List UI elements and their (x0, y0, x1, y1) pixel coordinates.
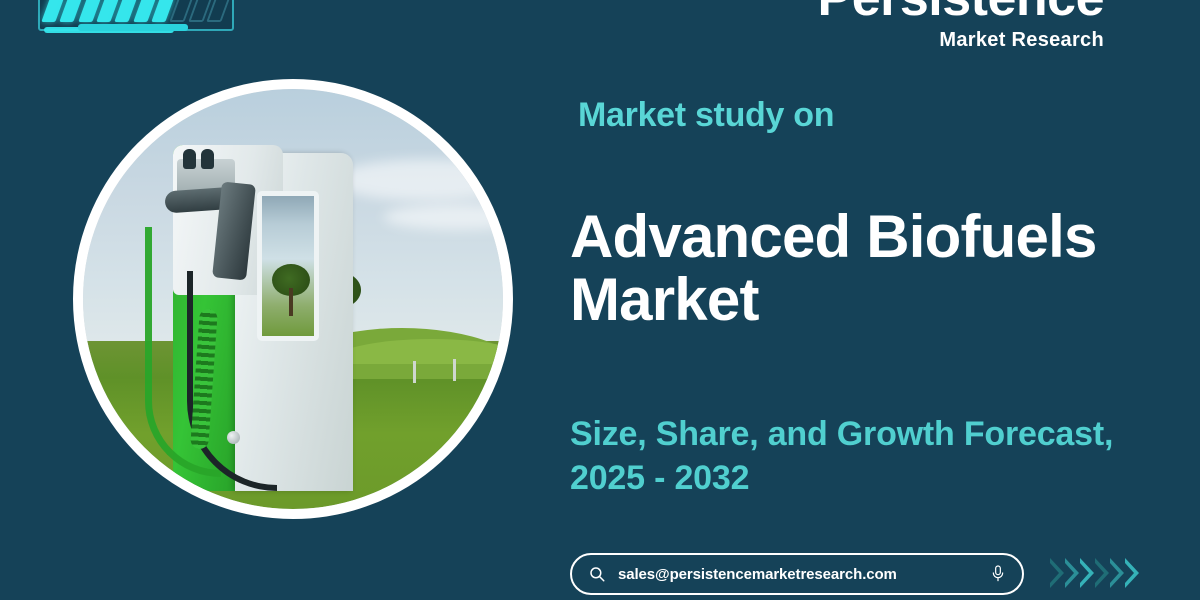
page-title: Advanced Biofuels Market (570, 205, 1170, 331)
field-pole (413, 361, 416, 383)
chevron-arrows-decoration (1050, 553, 1168, 593)
pump-knob (227, 431, 240, 444)
brand-tagline: Market Research (818, 30, 1104, 50)
loading-bar-segment-empty (207, 0, 231, 22)
hero-image-circle (73, 79, 513, 519)
screen-tree-trunk (289, 288, 293, 316)
hero-image (83, 89, 503, 509)
pump-display-screen (257, 191, 319, 341)
pump-nozzle-cap (183, 149, 196, 169)
chevron-right-icon (1065, 558, 1079, 588)
chevron-right-icon (1080, 558, 1094, 588)
loading-bar-underline-accent (78, 24, 188, 31)
pump-nozzle-cap (201, 149, 214, 169)
chevron-right-icon (1095, 558, 1109, 588)
chevron-right-icon (1050, 558, 1064, 588)
eyebrow-text: Market study on (578, 96, 834, 135)
brand-logo: Persistence Market Research (818, 0, 1104, 50)
search-bar[interactable]: sales@persistencemarketresearch.com (570, 553, 1024, 595)
brand-name: Persistence (818, 0, 1104, 24)
search-icon (588, 565, 606, 583)
page-subtitle: Size, Share, and Growth Forecast, 2025 -… (570, 412, 1130, 500)
field-pole (453, 359, 456, 381)
search-input[interactable]: sales@persistencemarketresearch.com (618, 566, 978, 583)
marketing-banner: Persistence Market Research (0, 0, 1200, 600)
chevron-right-icon (1125, 558, 1139, 588)
chevron-right-icon (1110, 558, 1124, 588)
biofuel-pump (131, 131, 331, 491)
microphone-icon[interactable] (990, 564, 1006, 584)
